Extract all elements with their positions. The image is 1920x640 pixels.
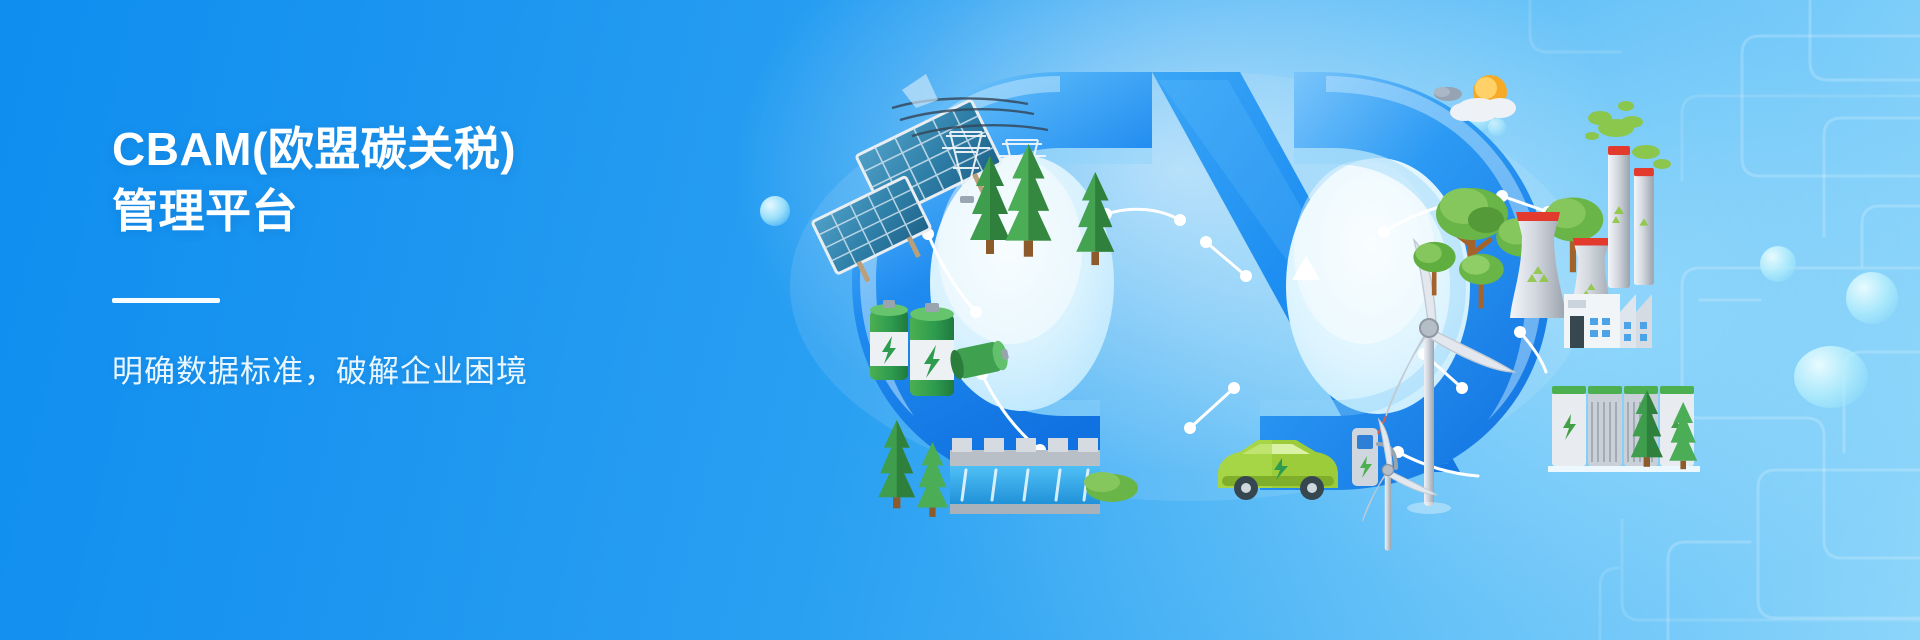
cbam-hero-banner: CBAM(欧盟碳关税) 管理平台 明确数据标准，破解企业困境	[0, 0, 1920, 640]
factory-building-icon	[1564, 280, 1652, 348]
banner-text-block: CBAM(欧盟碳关税) 管理平台 明确数据标准，破解企业困境	[112, 118, 872, 393]
loop-right-lobe	[1260, 72, 1550, 490]
bubble-decoration	[1846, 272, 1898, 324]
bubble-decoration	[1760, 246, 1796, 282]
title-divider	[112, 298, 220, 303]
banner-subtitle: 明确数据标准，破解企业困境	[112, 351, 872, 393]
bubble-decoration	[1794, 346, 1868, 408]
carbon-cycle-illustration	[760, 36, 1640, 506]
page-title: CBAM(欧盟碳关税) 管理平台	[112, 118, 872, 242]
